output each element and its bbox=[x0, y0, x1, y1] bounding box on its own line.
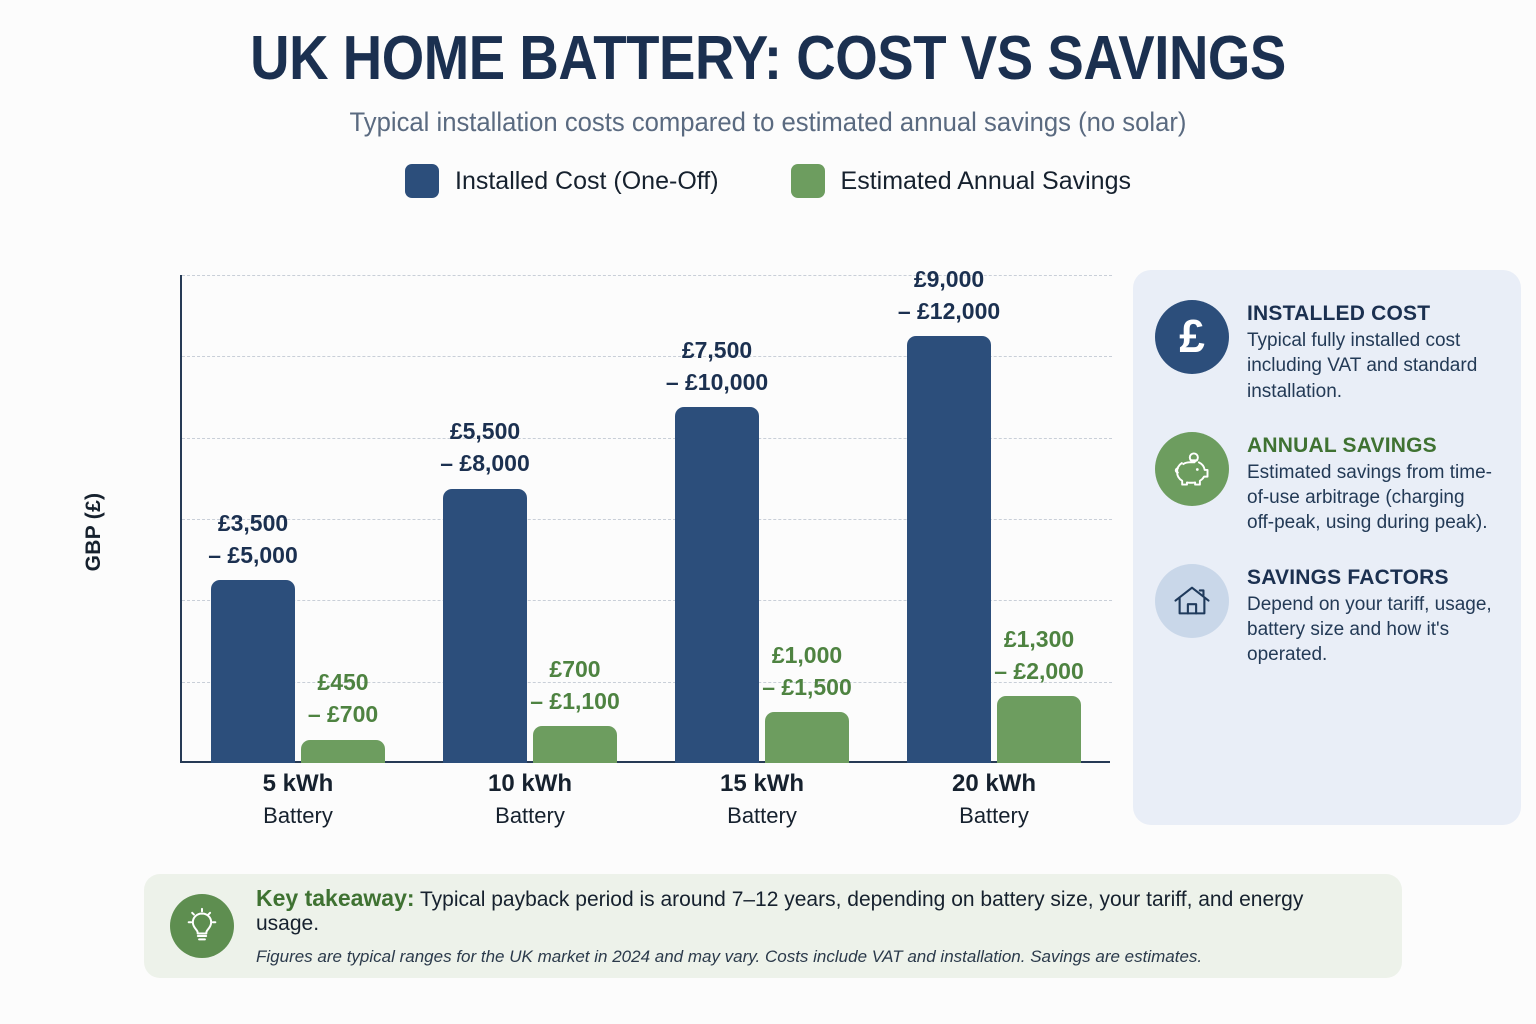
bar-rect-cost-2[interactable] bbox=[443, 489, 527, 764]
bar-group-4: £9,000– £12,000£1,300– £2,000 bbox=[878, 275, 1110, 763]
x-axis-label-4: 20 kWhBattery bbox=[878, 770, 1110, 829]
bar-value-label-save-4: £1,300– £2,000 bbox=[994, 623, 1084, 687]
side-panel-body-3: Depend on your tariff, usage, battery si… bbox=[1247, 592, 1495, 668]
chart-legend: Installed Cost (One-Off)Estimated Annual… bbox=[0, 164, 1536, 198]
bar-value-label-save-2: £700– £1,100 bbox=[530, 653, 620, 717]
footer-disclaimer: Figures are typical ranges for the UK ma… bbox=[256, 947, 1372, 967]
bar-chart: GBP (£) £0£2,000£4,000£6,000£8,000£10,00… bbox=[0, 258, 1120, 858]
key-takeaway-footer: Key takeaway: Typical payback period is … bbox=[144, 874, 1402, 978]
bar-rect-save-4[interactable] bbox=[997, 696, 1081, 763]
takeaway-label: Key takeaway: bbox=[256, 885, 415, 911]
bar-rect-save-3[interactable] bbox=[765, 712, 849, 763]
side-panel-item-1: £INSTALLED COSTTypical fully installed c… bbox=[1155, 300, 1495, 404]
legend-item-1: Installed Cost (One-Off) bbox=[405, 164, 719, 198]
legend-swatch-installed-cost bbox=[405, 164, 439, 198]
bar-group-2: £5,500– £8,000£700– £1,100 bbox=[414, 275, 646, 763]
side-panel-item-2: ANNUAL SAVINGSEstimated savings from tim… bbox=[1155, 432, 1495, 536]
house-icon bbox=[1155, 564, 1229, 638]
side-panel-body-1: Typical fully installed cost including V… bbox=[1247, 328, 1495, 404]
piggy-bank-icon bbox=[1155, 432, 1229, 506]
bar-value-label-cost-4: £9,000– £12,000 bbox=[898, 263, 1000, 327]
bar-rect-cost-1[interactable] bbox=[211, 580, 295, 763]
bar-group-3: £7,500– £10,000£1,000– £1,500 bbox=[646, 275, 878, 763]
pound-glyph: £ bbox=[1179, 313, 1205, 359]
main-area: GBP (£) £0£2,000£4,000£6,000£8,000£10,00… bbox=[0, 258, 1536, 858]
bar-value-label-cost-2: £5,500– £8,000 bbox=[440, 415, 530, 479]
bar-rect-cost-4[interactable] bbox=[907, 336, 991, 763]
bar-save-1[interactable]: £450– £700 bbox=[301, 740, 385, 763]
x-axis-label-1: 5 kWhBattery bbox=[182, 770, 414, 829]
pound-icon: £ bbox=[1155, 300, 1229, 374]
side-panel-body-2: Estimated savings from time-of-use arbit… bbox=[1247, 460, 1495, 536]
bar-cost-2[interactable]: £5,500– £8,000 bbox=[443, 489, 527, 764]
page-title: UK HOME BATTERY: COST VS SAVINGS bbox=[92, 26, 1444, 91]
page-subtitle: Typical installation costs compared to e… bbox=[38, 107, 1497, 138]
bar-value-label-cost-1: £3,500– £5,000 bbox=[208, 507, 298, 571]
info-side-panel: £INSTALLED COSTTypical fully installed c… bbox=[1133, 270, 1521, 825]
footer-text-block: Key takeaway: Typical payback period is … bbox=[256, 885, 1372, 967]
bar-save-4[interactable]: £1,300– £2,000 bbox=[997, 696, 1081, 763]
bar-rect-save-2[interactable] bbox=[533, 726, 617, 763]
legend-label-2: Estimated Annual Savings bbox=[841, 167, 1131, 196]
side-panel-text-3: SAVINGS FACTORSDepend on your tariff, us… bbox=[1247, 564, 1495, 668]
bar-rect-cost-3[interactable] bbox=[675, 407, 759, 763]
side-panel-heading-1: INSTALLED COST bbox=[1247, 302, 1495, 326]
bar-value-label-cost-3: £7,500– £10,000 bbox=[666, 334, 768, 398]
bar-save-2[interactable]: £700– £1,100 bbox=[533, 726, 617, 763]
takeaway-line: Key takeaway: Typical payback period is … bbox=[256, 885, 1372, 936]
side-panel-text-1: INSTALLED COSTTypical fully installed co… bbox=[1247, 300, 1495, 404]
lightbulb-icon bbox=[170, 894, 234, 958]
bar-value-label-save-3: £1,000– £1,500 bbox=[762, 639, 852, 703]
bar-rect-save-1[interactable] bbox=[301, 740, 385, 763]
side-panel-heading-2: ANNUAL SAVINGS bbox=[1247, 434, 1495, 458]
legend-swatch-annual-savings bbox=[791, 164, 825, 198]
header: UK HOME BATTERY: COST VS SAVINGS Typical… bbox=[0, 0, 1536, 138]
bar-cost-1[interactable]: £3,500– £5,000 bbox=[211, 580, 295, 763]
bar-save-3[interactable]: £1,000– £1,500 bbox=[765, 712, 849, 763]
bar-value-label-save-1: £450– £700 bbox=[308, 666, 378, 730]
side-panel-text-2: ANNUAL SAVINGSEstimated savings from tim… bbox=[1247, 432, 1495, 536]
x-axis-label-3: 15 kWhBattery bbox=[646, 770, 878, 829]
x-axis-label-2: 10 kWhBattery bbox=[414, 770, 646, 829]
side-panel-item-3: SAVINGS FACTORSDepend on your tariff, us… bbox=[1155, 564, 1495, 668]
legend-label-1: Installed Cost (One-Off) bbox=[455, 167, 719, 196]
bar-group-1: £3,500– £5,000£450– £700 bbox=[182, 275, 414, 763]
side-panel-heading-3: SAVINGS FACTORS bbox=[1247, 566, 1495, 590]
bar-cost-4[interactable]: £9,000– £12,000 bbox=[907, 336, 991, 763]
bar-groups: £3,500– £5,000£450– £700£5,500– £8,000£7… bbox=[182, 275, 1110, 763]
bar-cost-3[interactable]: £7,500– £10,000 bbox=[675, 407, 759, 763]
legend-item-2: Estimated Annual Savings bbox=[791, 164, 1131, 198]
y-axis-title: GBP (£) bbox=[82, 432, 106, 632]
x-axis-labels: 5 kWhBattery10 kWhBattery15 kWhBattery20… bbox=[182, 770, 1110, 829]
